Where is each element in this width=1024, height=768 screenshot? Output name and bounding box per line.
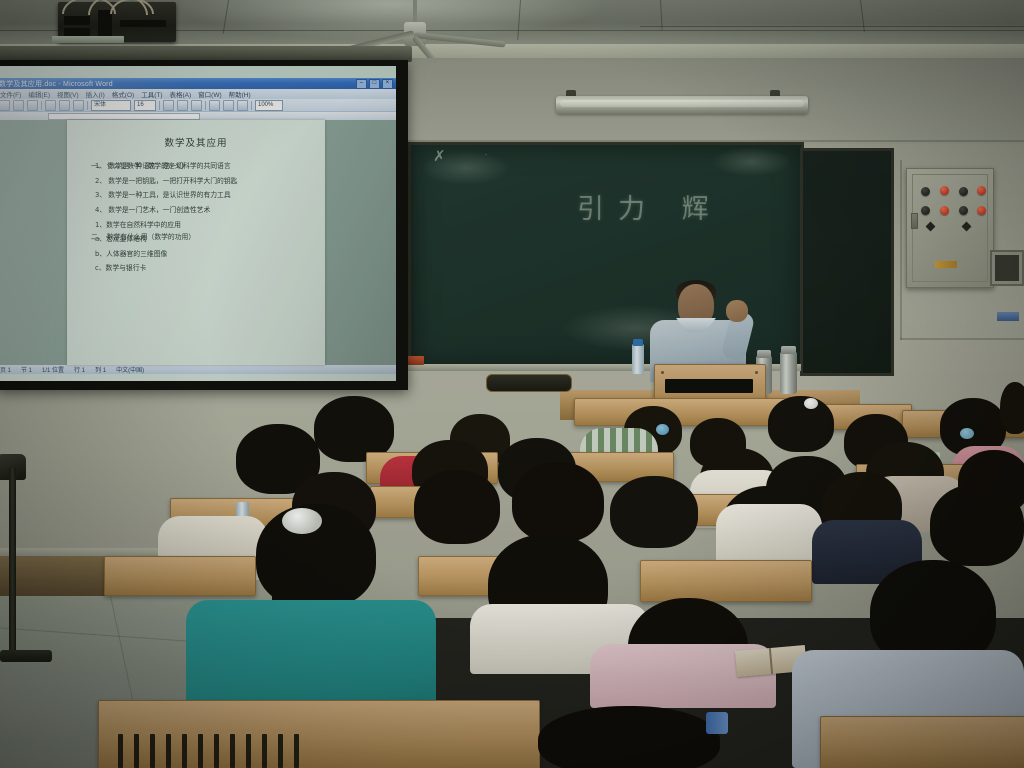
new-doc-icon[interactable]	[0, 100, 10, 111]
ceiling-tile-seam	[640, 26, 1024, 27]
document-line: 3、 数学是一种工具，是认识世界的有力工具	[95, 192, 311, 199]
document-page[interactable]: 数学及其应用 一、 什么是数学（数学的定义） 1、 数学是一种语言，是一切科学的…	[67, 120, 325, 365]
ceiling-light-glow	[180, 0, 600, 40]
indicator-lamp	[977, 206, 986, 215]
bottle-cap	[633, 339, 643, 346]
projector-cable	[110, 0, 154, 14]
document-title: 数学及其应用	[81, 135, 311, 149]
word-menu-bar[interactable]: 文件(F) 编辑(E) 视图(V) 插入(I) 格式(O) 工具(T) 表格(A…	[0, 89, 396, 99]
save-icon[interactable]	[27, 100, 38, 111]
menu-item-tools[interactable]: 工具(T)	[141, 89, 162, 99]
wall-seam	[900, 338, 1024, 340]
hair-tie	[656, 424, 669, 435]
ruler-indent-marker[interactable]	[48, 113, 200, 120]
indicator-lamp	[940, 206, 949, 215]
student-head	[768, 396, 834, 452]
word-title-bar: 数学及其应用.doc - Microsoft Word – □ ×	[0, 78, 396, 89]
document-line: 1、数学在自然科学中的应用	[95, 222, 311, 229]
italic-icon[interactable]	[177, 100, 188, 111]
status-language: 中文(中国)	[116, 365, 144, 374]
align-left-icon[interactable]	[209, 100, 220, 111]
status-position: 1/1 位置	[42, 365, 64, 374]
hair-tie	[960, 428, 974, 439]
microphone-base	[0, 650, 52, 662]
student-head	[930, 484, 1024, 566]
print-icon[interactable]	[45, 100, 56, 111]
flask-cap	[757, 350, 771, 358]
word-window: 数学及其应用.doc - Microsoft Word – □ × 文件(F) …	[0, 78, 396, 381]
document-line: 二、 数学有什么用（数学的功用）	[91, 234, 195, 241]
projection-screen: 数学及其应用.doc - Microsoft Word – □ × 文件(F) …	[0, 60, 408, 390]
lecture-hall-photo: ✗ · 引力 辉 数学及其应用.doc - Microsoft Word	[0, 0, 1024, 768]
underline-icon[interactable]	[191, 100, 202, 111]
menu-item-file[interactable]: 文件(F)	[0, 89, 21, 99]
align-center-icon[interactable]	[223, 100, 234, 111]
chalk-mark: ✗	[433, 147, 446, 165]
menu-item-edit[interactable]: 编辑(E)	[28, 89, 50, 99]
wall-notice-frame	[990, 250, 1024, 286]
document-line: b、人体器官的三维图像	[95, 251, 311, 258]
bold-icon[interactable]	[163, 100, 174, 111]
student-head	[414, 470, 500, 544]
lectern-slot	[665, 379, 753, 393]
word-ruler[interactable]	[0, 111, 396, 120]
panel-nameplate	[935, 261, 957, 268]
indicator-lamp	[959, 206, 968, 215]
menu-item-help[interactable]: 帮助(H)	[229, 89, 251, 99]
minimize-icon[interactable]: –	[356, 79, 367, 89]
chalk-mark: ·	[485, 151, 487, 159]
projector-mount-plate	[52, 36, 124, 43]
electrical-control-panel[interactable]	[906, 168, 994, 288]
status-column: 列 1	[95, 365, 106, 374]
water-bottle	[632, 344, 644, 374]
close-icon[interactable]: ×	[382, 79, 393, 89]
document-line: c、数学与银行卡	[95, 265, 311, 272]
word-toolbar[interactable]: 宋体 16 100%	[0, 99, 396, 111]
indicator-lamp	[940, 186, 949, 195]
equipment-case	[486, 374, 572, 392]
bench-slats	[118, 734, 299, 768]
panel-switch[interactable]	[911, 213, 918, 229]
student-head	[610, 476, 698, 548]
student-body	[716, 504, 822, 566]
bullets-icon[interactable]	[237, 100, 248, 111]
desk-row	[104, 556, 256, 596]
indicator-lamp	[921, 206, 930, 215]
maximize-icon[interactable]: □	[369, 79, 380, 89]
document-line: 2、 数学是一把钥匙，一把打开科学大门的钥匙	[95, 178, 311, 185]
menu-item-view[interactable]: 视图(V)	[57, 89, 79, 99]
hair-scrunchie	[282, 508, 322, 534]
blue-cup	[706, 712, 728, 734]
chalkboard-side-panel	[800, 148, 894, 376]
menu-item-window[interactable]: 窗口(W)	[198, 89, 221, 99]
status-section: 节 1	[21, 365, 32, 374]
light-tube	[560, 100, 804, 107]
student-head-foreground	[538, 706, 720, 768]
desk-row	[640, 560, 812, 602]
word-document-area[interactable]: 数学及其应用 一、 什么是数学（数学的定义） 1、 数学是一种语言，是一切科学的…	[0, 120, 396, 365]
menu-item-format[interactable]: 格式(O)	[112, 89, 134, 99]
word-title-text: 数学及其应用.doc - Microsoft Word	[0, 79, 113, 89]
document-line: 4、 数学是一门艺术，一门创造性艺术	[95, 207, 311, 214]
open-icon[interactable]	[13, 100, 24, 111]
wall-sign	[997, 312, 1019, 321]
document-line: 一、 什么是数学（数学的定义）	[91, 163, 188, 170]
status-line: 行 1	[74, 365, 85, 374]
menu-item-insert[interactable]: 插入(I)	[86, 89, 105, 99]
indicator-lamp	[921, 187, 930, 196]
word-status-bar: 页 1 节 1 1/1 位置 行 1 列 1 中文(中国)	[0, 365, 396, 374]
lecturer-hand	[726, 300, 748, 322]
menu-item-table[interactable]: 表格(A)	[170, 89, 192, 99]
window-controls[interactable]: – □ ×	[356, 79, 393, 89]
indicator-lamp	[959, 187, 968, 196]
status-page: 页 1	[0, 365, 11, 374]
fluorescent-light-icon	[556, 96, 808, 114]
chalkboard-handwriting: 引力 辉	[577, 187, 723, 226]
font-name-select[interactable]: 宋体	[91, 100, 131, 111]
thermos-flask	[780, 352, 797, 394]
ceiling-tile-seam	[860, 0, 865, 32]
wall-seam	[900, 160, 902, 340]
student-head	[1000, 382, 1024, 434]
microphone-stand	[9, 468, 16, 654]
hair-tie	[804, 398, 818, 409]
undo-icon[interactable]	[59, 100, 70, 111]
flask-cap	[781, 346, 796, 354]
zoom-select[interactable]: 100%	[255, 100, 283, 111]
redo-icon[interactable]	[73, 100, 84, 111]
font-size-select[interactable]: 16	[134, 100, 156, 111]
front-bench	[820, 716, 1024, 768]
fan-rod	[413, 0, 417, 24]
student-head	[512, 462, 604, 542]
indicator-lamp	[977, 186, 986, 195]
